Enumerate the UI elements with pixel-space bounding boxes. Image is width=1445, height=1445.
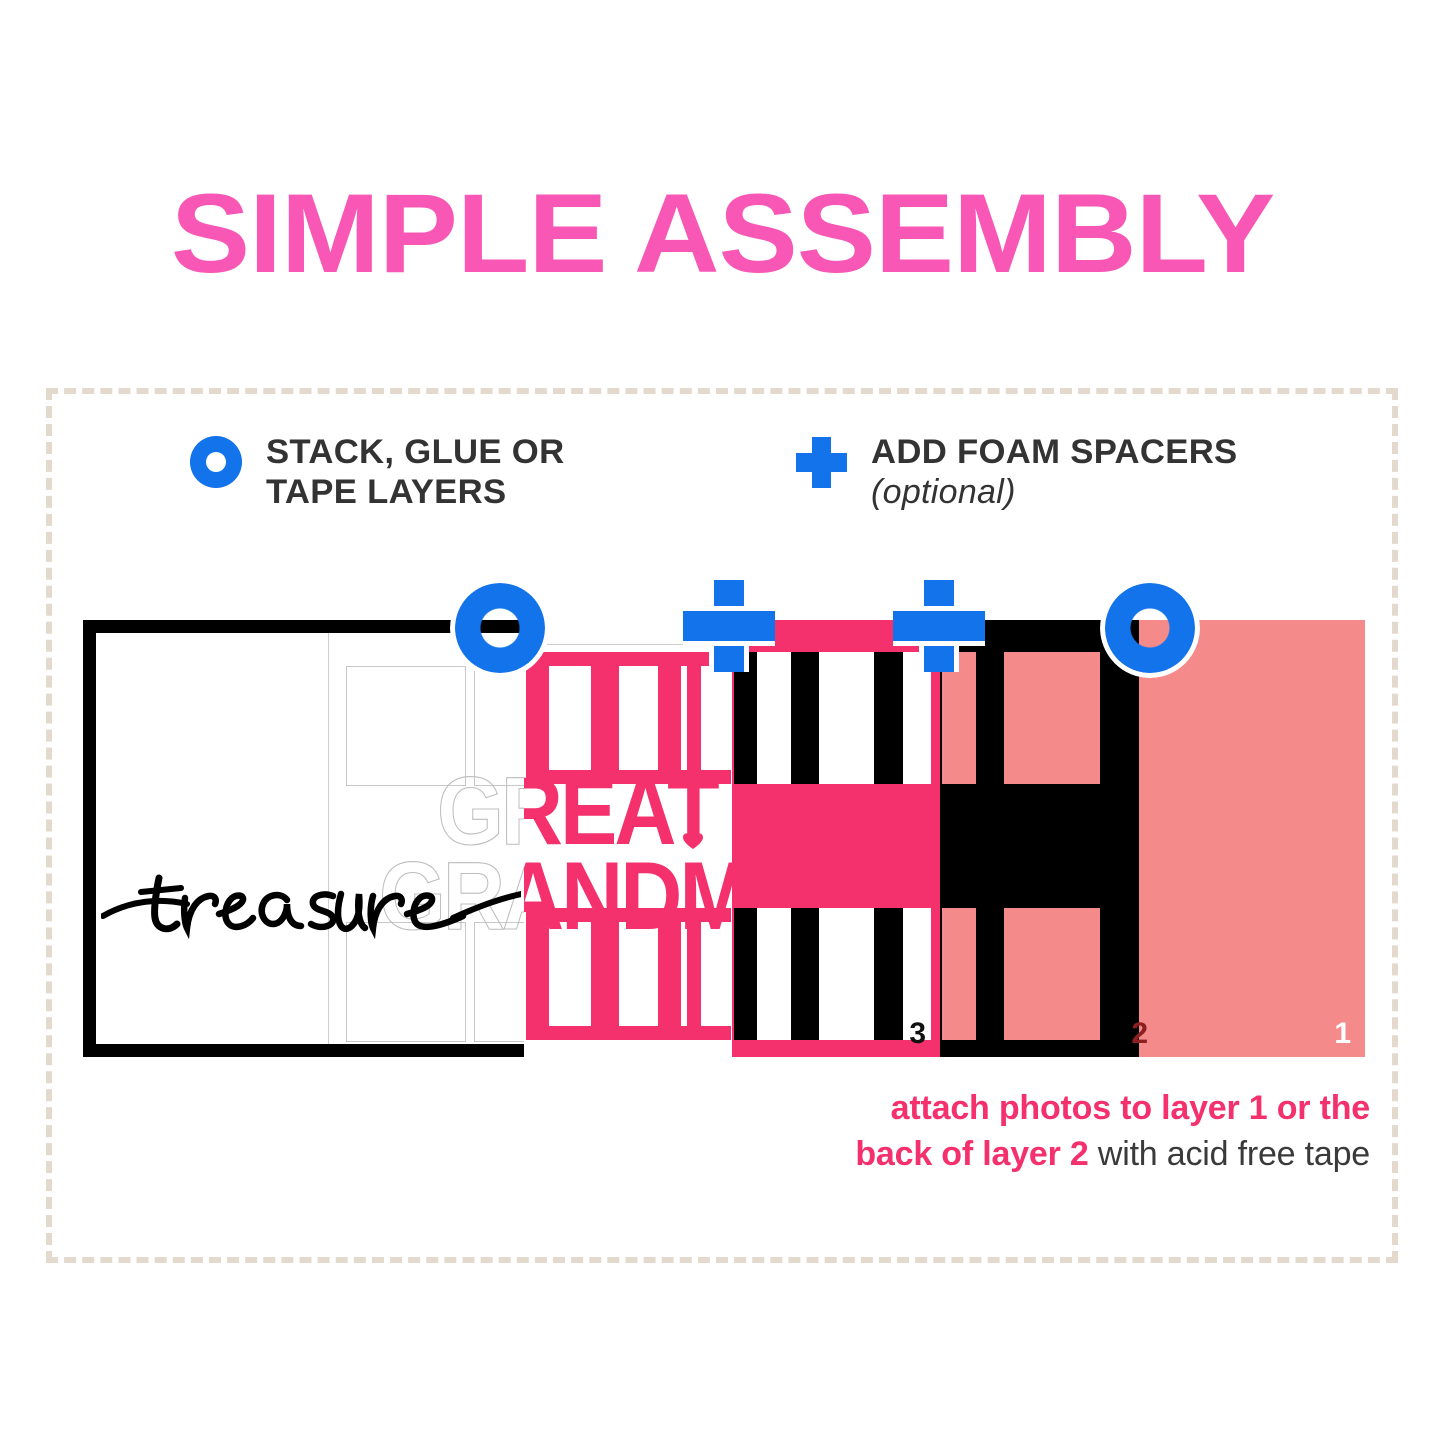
blue-plus-icon (795, 436, 847, 488)
layer-3-artwork (732, 620, 940, 1057)
cutout-window (819, 908, 874, 1040)
caption: attach photos to layer 1 or the back of … (760, 1085, 1370, 1177)
overlay-plus-icon-1 (683, 580, 775, 672)
legend-spacers-line2: (optional) (871, 472, 1230, 512)
layer-1-salmon: 1 (1162, 620, 1365, 1057)
blue-ring-icon (190, 436, 242, 488)
pink-headline-line2: GRANDMA'S (524, 855, 732, 940)
cutout-window (1004, 652, 1100, 784)
legend-item-stack: STACK, GLUE OR TAPE LAYERS (190, 432, 559, 512)
cutout-band (889, 908, 903, 1040)
overlay-ring-icon-2 (1105, 583, 1195, 673)
cutout-window (1139, 620, 1162, 1057)
layer-3-pink: 3 (732, 620, 940, 1057)
layer-3-artwork: GREAT GRANDMA'S (524, 620, 732, 1057)
caption-plain: with acid free tape (1089, 1135, 1370, 1173)
caption-emphasis-2: back of layer 2 (855, 1135, 1088, 1173)
cutout-window (1004, 908, 1100, 1040)
legend-stack-line2: TAPE LAYERS (266, 472, 564, 512)
legend-stack-line1: STACK, GLUE OR (266, 432, 564, 472)
legend-item-spacers: ADD FOAM SPACERS (optional) (795, 432, 1230, 512)
legend-spacers-line1: ADD FOAM SPACERS (871, 432, 1237, 472)
layer-stack-diagram: GREAT GRANDMA'S (83, 620, 1365, 1057)
overlay-plus-icon-2 (893, 580, 985, 672)
layer-2-black: 2 (940, 620, 1162, 1057)
overlay-ring-icon-1 (455, 583, 545, 673)
cutout-window (819, 652, 874, 784)
layer-3-white-card: GREAT GRANDMA'S (524, 620, 732, 1057)
page-title: SIMPLE ASSEMBLY (0, 178, 1445, 290)
cutout-window (757, 908, 791, 1040)
pink-headline: GREAT GRANDMA'S (524, 770, 732, 940)
caption-emphasis-1: attach photos to layer 1 or the (891, 1089, 1370, 1127)
layer-number-3: 3 (909, 1017, 926, 1051)
cutout-window (942, 908, 976, 1040)
layer-2-artwork (940, 620, 1162, 1057)
pink-frame-bar (681, 1026, 731, 1040)
heart-icon (683, 832, 703, 850)
layer-number-2: 2 (1131, 1017, 1148, 1051)
layer-4-black-border (83, 620, 524, 1057)
layer-4-outline-card: GREAT GRANDMA'S (83, 620, 524, 1057)
layer-number-1: 1 (1334, 1017, 1351, 1051)
